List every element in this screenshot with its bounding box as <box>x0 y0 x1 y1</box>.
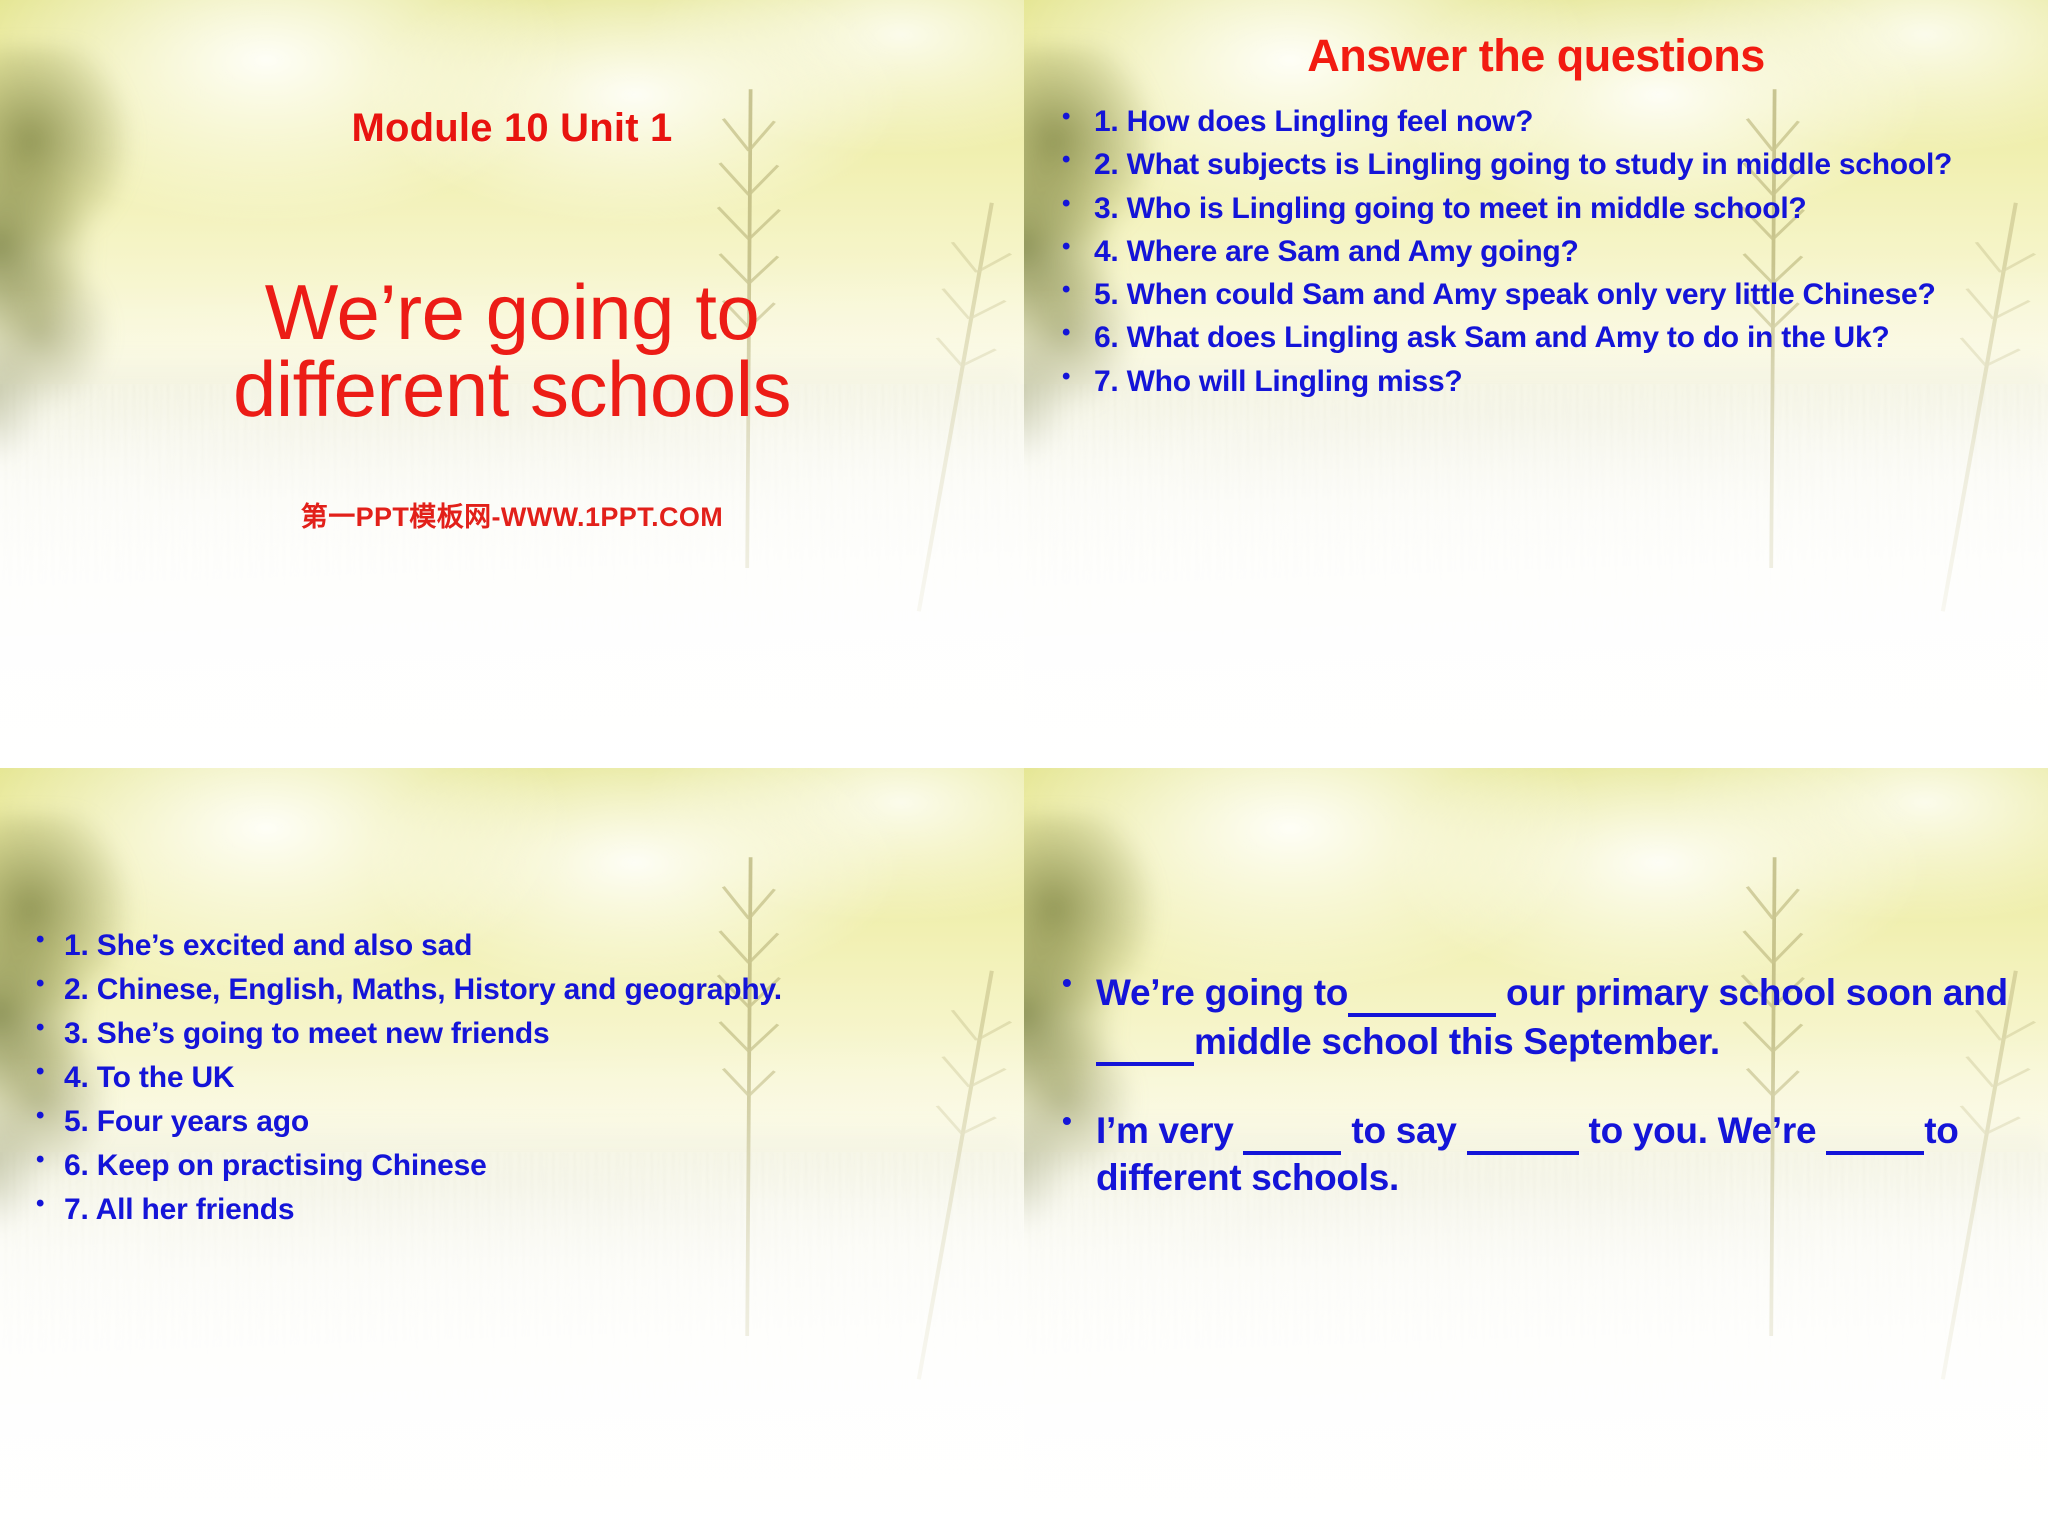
slide-answers-content: 1. She’s excited and also sad 2. Chinese… <box>0 768 1024 1536</box>
list-item: 1. How does Lingling feel now? <box>1056 104 2030 140</box>
slide-title: Module 10 Unit 1 We’re going to differen… <box>0 0 1024 768</box>
list-item: 4. To the UK <box>28 1060 1000 1096</box>
slide-questions-content: Answer the questions 1. How does Linglin… <box>1024 0 2048 768</box>
blank-underline <box>1467 1106 1579 1155</box>
list-item: 2. Chinese, English, Maths, History and … <box>28 972 1000 1008</box>
questions-list: 1. How does Lingling feel now? 2. What s… <box>1056 104 2030 407</box>
list-item: 7. All her friends <box>28 1192 1000 1228</box>
module-label: Module 10 Unit 1 <box>0 106 1024 151</box>
list-item: I’m very to say to you. We’re to differe… <box>1054 1106 2024 1200</box>
questions-heading: Answer the questions <box>1024 30 2048 82</box>
watermark-text: 第一PPT模板网-WWW.1PPT.COM <box>0 495 1024 534</box>
slide-fill-in-blanks: We’re going to our primary school soon a… <box>1024 768 2048 1536</box>
fill-in-blanks-list: We’re going to our primary school soon a… <box>1054 968 2024 1241</box>
blank-underline <box>1826 1106 1924 1155</box>
title-line-1: We’re going to <box>265 268 760 356</box>
list-item: 3. She’s going to meet new friends <box>28 1016 1000 1052</box>
list-item: We’re going to our primary school soon a… <box>1054 968 2024 1066</box>
list-item: 1. She’s excited and also sad <box>28 928 1000 964</box>
list-item: 6. What does Lingling ask Sam and Amy to… <box>1056 320 2030 356</box>
list-item: 4. Where are Sam and Amy going? <box>1056 234 2030 270</box>
slide-answers: 1. She’s excited and also sad 2. Chinese… <box>0 768 1024 1536</box>
page-title: We’re going to different schools <box>60 274 964 427</box>
blank-underline <box>1348 968 1496 1017</box>
list-item: 6. Keep on practising Chinese <box>28 1148 1000 1184</box>
list-item: 5. Four years ago <box>28 1104 1000 1140</box>
list-item: 5. When could Sam and Amy speak only ver… <box>1056 277 2030 313</box>
list-item: 7. Who will Lingling miss? <box>1056 364 2030 400</box>
list-item: 3. Who is Lingling going to meet in midd… <box>1056 191 2030 227</box>
answers-list: 1. She’s excited and also sad 2. Chinese… <box>28 928 1000 1236</box>
slide-deck-grid: Module 10 Unit 1 We’re going to differen… <box>0 0 2048 1536</box>
slide-questions: Answer the questions 1. How does Linglin… <box>1024 0 2048 768</box>
title-line-2: different schools <box>60 351 964 427</box>
slide-fill-in-blanks-content: We’re going to our primary school soon a… <box>1024 768 2048 1536</box>
blank-underline <box>1096 1017 1194 1066</box>
blank-underline <box>1243 1106 1341 1155</box>
list-item: 2. What subjects is Lingling going to st… <box>1056 147 2030 183</box>
slide-title-content: Module 10 Unit 1 We’re going to differen… <box>0 0 1024 768</box>
